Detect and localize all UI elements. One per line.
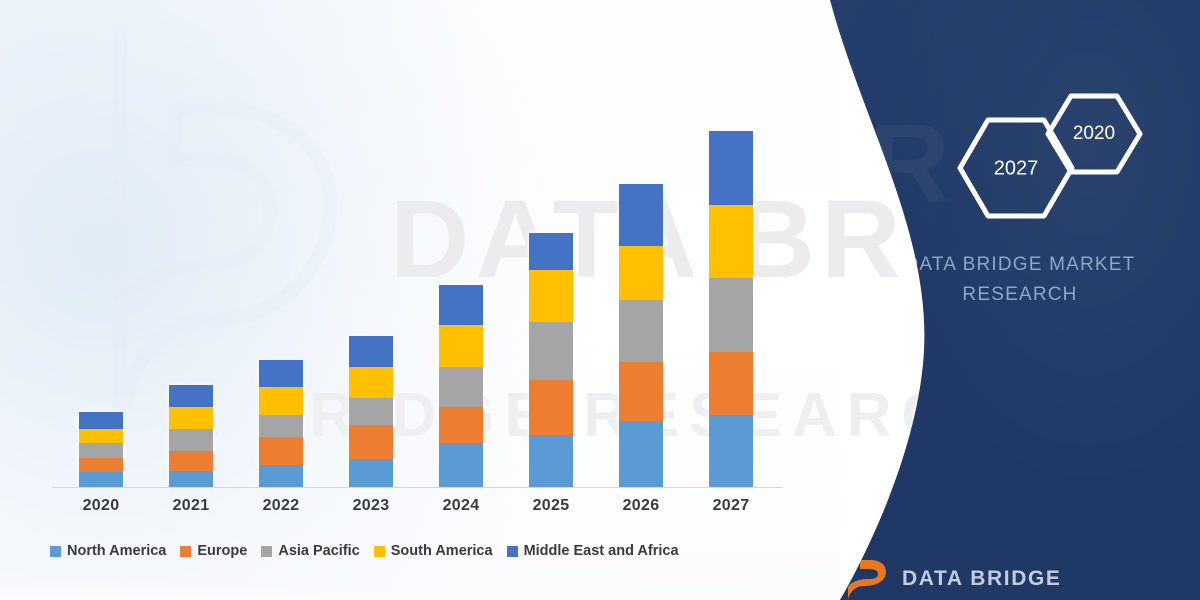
bar-segment xyxy=(349,367,393,398)
bar-segment xyxy=(79,443,123,458)
bar-segment xyxy=(259,415,303,437)
legend-swatch-icon xyxy=(261,546,272,557)
bar-segment xyxy=(79,429,123,443)
stacked-bar xyxy=(259,360,303,487)
bar-segment xyxy=(259,465,303,487)
bar-segment xyxy=(529,233,573,270)
legend-label: South America xyxy=(391,543,493,559)
legend-label: Asia Pacific xyxy=(278,543,359,559)
x-axis-label: 2024 xyxy=(416,497,506,515)
brand-name-line-1: DATA BRIDGE MARKET xyxy=(860,250,1180,280)
bar-segment xyxy=(529,270,573,322)
chart-bars xyxy=(56,60,776,487)
legend-item[interactable]: Middle East and Africa xyxy=(507,543,679,559)
bar-segment xyxy=(349,425,393,459)
bar-segment xyxy=(709,415,753,487)
footer-logo-text: DATA BRIDGE xyxy=(902,567,1062,590)
legend-swatch-icon xyxy=(374,546,385,557)
stacked-bar xyxy=(709,131,753,487)
bar-segment xyxy=(79,472,123,487)
bar-segment xyxy=(349,398,393,425)
bar-segment xyxy=(169,451,213,471)
bar-segment xyxy=(619,362,663,421)
bar-segment xyxy=(529,435,573,487)
stacked-bar xyxy=(439,285,483,487)
x-axis-label: 2025 xyxy=(506,497,596,515)
x-axis-label: 2026 xyxy=(596,497,686,515)
bar-segment xyxy=(439,285,483,325)
bar-segment xyxy=(169,471,213,487)
stacked-bar-chart: 20202021202220232024202520262027 North A… xyxy=(0,0,800,600)
footer-logo-mark-icon xyxy=(842,556,892,600)
x-axis-label: 2022 xyxy=(236,497,326,515)
bar-segment xyxy=(439,325,483,367)
screenshot-root: DATA BR A BRIDGE RESEARCH 20202021202220… xyxy=(0,0,1200,600)
bar-segment xyxy=(259,387,303,415)
x-axis-label: 2020 xyxy=(56,497,146,515)
legend-label: Europe xyxy=(197,543,247,559)
bar-segment xyxy=(349,336,393,367)
bar-segment xyxy=(529,380,573,435)
x-axis-label: 2027 xyxy=(686,497,776,515)
bar-segment xyxy=(439,443,483,487)
legend-label: Middle East and Africa xyxy=(524,543,679,559)
brand-name-block: DATA BRIDGE MARKET RESEARCH xyxy=(860,250,1180,310)
x-axis-labels: 20202021202220232024202520262027 xyxy=(56,497,776,515)
legend-item[interactable]: Europe xyxy=(180,543,247,559)
brand-name-line-2: RESEARCH xyxy=(860,280,1180,310)
bottom-fade-strip xyxy=(0,582,820,600)
bar-segment xyxy=(169,407,213,429)
bar-segment xyxy=(169,385,213,407)
footer-logo: DATA BRIDGE xyxy=(842,556,1062,600)
stacked-bar xyxy=(349,336,393,487)
stacked-bar xyxy=(619,184,663,487)
bar-column xyxy=(326,60,416,487)
stacked-bar xyxy=(529,233,573,487)
x-axis-line xyxy=(52,487,782,488)
bar-segment xyxy=(619,246,663,300)
bar-segment xyxy=(169,429,213,451)
stacked-bar xyxy=(169,385,213,487)
bar-column xyxy=(416,60,506,487)
legend-item[interactable]: North America xyxy=(50,543,166,559)
bar-segment xyxy=(439,367,483,407)
bar-column xyxy=(596,60,686,487)
legend-swatch-icon xyxy=(180,546,191,557)
bar-segment xyxy=(79,412,123,429)
legend-swatch-icon xyxy=(50,546,61,557)
bar-segment xyxy=(259,437,303,465)
bar-segment xyxy=(709,205,753,278)
bar-segment xyxy=(619,184,663,246)
bar-segment xyxy=(709,131,753,205)
bar-segment xyxy=(529,322,573,380)
legend-item[interactable]: South America xyxy=(374,543,493,559)
bar-segment xyxy=(709,352,753,415)
bar-column xyxy=(506,60,596,487)
legend-label: North America xyxy=(67,543,166,559)
bar-column xyxy=(146,60,236,487)
stacked-bar xyxy=(79,412,123,487)
bar-segment xyxy=(349,459,393,487)
legend-swatch-icon xyxy=(507,546,518,557)
bar-column xyxy=(56,60,146,487)
hexagon-year-badges: 2027 2020 xyxy=(940,98,1170,228)
bar-segment xyxy=(619,421,663,487)
x-axis-label: 2021 xyxy=(146,497,236,515)
bar-segment xyxy=(79,458,123,472)
bar-segment xyxy=(619,300,663,362)
bar-column xyxy=(686,60,776,487)
x-axis-label: 2023 xyxy=(326,497,416,515)
chart-legend: North AmericaEuropeAsia PacificSouth Ame… xyxy=(50,543,790,559)
bar-segment xyxy=(259,360,303,387)
legend-item[interactable]: Asia Pacific xyxy=(261,543,359,559)
bar-segment xyxy=(439,407,483,443)
bar-column xyxy=(236,60,326,487)
bar-segment xyxy=(709,278,753,352)
hexagon-small-label: 2020 xyxy=(1073,123,1115,144)
hexagon-large-label: 2027 xyxy=(994,157,1039,179)
